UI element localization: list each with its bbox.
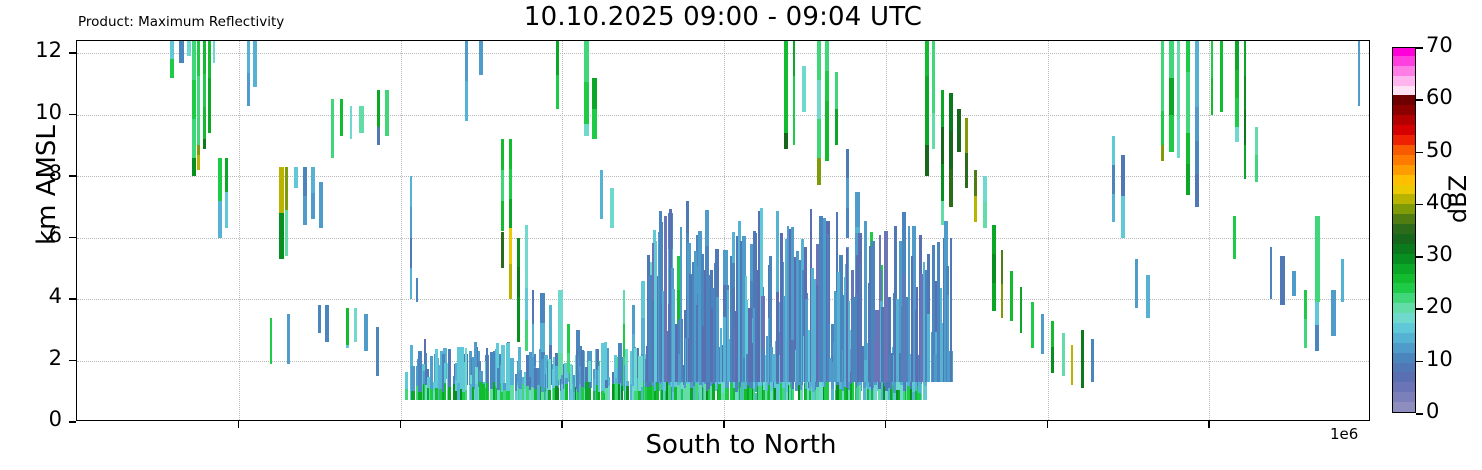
reflectivity-segment bbox=[311, 167, 315, 193]
reflectivity-segment bbox=[855, 294, 857, 382]
reflectivity-column bbox=[213, 41, 215, 420]
y-tick-label: 2 bbox=[14, 346, 62, 370]
colorbar-band bbox=[1393, 283, 1415, 293]
reflectivity-segment bbox=[465, 81, 468, 121]
reflectivity-segment bbox=[570, 364, 572, 389]
reflectivity-segment bbox=[1081, 359, 1084, 388]
reflectivity-segment bbox=[1331, 290, 1336, 336]
reflectivity-segment bbox=[937, 242, 940, 382]
reflectivity-segment bbox=[225, 192, 228, 229]
colorbar-tick-label: 20 bbox=[1426, 294, 1453, 318]
reflectivity-segment bbox=[203, 107, 206, 140]
reflectivity-segment bbox=[509, 199, 512, 229]
reflectivity-segment bbox=[1071, 345, 1073, 385]
reflectivity-segment bbox=[632, 305, 635, 334]
reflectivity-segment bbox=[1177, 119, 1180, 158]
colorbar-tick-mark bbox=[1416, 99, 1423, 101]
reflectivity-column bbox=[1169, 41, 1174, 420]
reflectivity-segment bbox=[197, 155, 200, 170]
reflectivity-segment bbox=[581, 387, 584, 400]
x-tick-mark bbox=[238, 421, 240, 428]
colorbar-band bbox=[1393, 115, 1415, 125]
reflectivity-segment bbox=[763, 348, 765, 382]
reflectivity-segment bbox=[925, 111, 929, 146]
reflectivity-segment bbox=[598, 392, 600, 400]
reflectivity-segment bbox=[573, 375, 575, 392]
colorbar-tick-label: 0 bbox=[1426, 399, 1439, 423]
reflectivity-segment bbox=[1292, 271, 1296, 296]
reflectivity-segment bbox=[350, 106, 352, 140]
reflectivity-segment bbox=[1304, 319, 1307, 348]
reflectivity-segment bbox=[932, 77, 935, 113]
y-tick-label: 4 bbox=[14, 284, 62, 308]
reflectivity-segment bbox=[584, 41, 589, 82]
reflectivity-segment bbox=[1169, 115, 1174, 152]
reflectivity-column bbox=[1220, 41, 1223, 420]
reflectivity-column bbox=[983, 41, 987, 420]
reflectivity-segment bbox=[340, 99, 343, 136]
colorbar bbox=[1392, 47, 1416, 413]
reflectivity-segment bbox=[784, 133, 788, 148]
reflectivity-segment bbox=[1315, 273, 1320, 302]
reflectivity-segment bbox=[776, 292, 779, 382]
reflectivity-segment bbox=[565, 384, 568, 399]
reflectivity-segment bbox=[705, 210, 709, 246]
reflectivity-segment bbox=[859, 385, 861, 399]
reflectivity-segment bbox=[565, 378, 568, 385]
reflectivity-column bbox=[376, 41, 379, 420]
reflectivity-segment bbox=[532, 290, 534, 324]
reflectivity-column bbox=[1211, 41, 1213, 420]
reflectivity-segment bbox=[410, 268, 412, 299]
reflectivity-segment bbox=[208, 115, 211, 133]
reflectivity-segment bbox=[1169, 78, 1174, 115]
x-tick-mark bbox=[561, 421, 563, 428]
reflectivity-segment bbox=[364, 314, 368, 351]
reflectivity-segment bbox=[600, 170, 603, 219]
reflectivity-segment bbox=[1235, 98, 1239, 127]
reflectivity-segment bbox=[1081, 330, 1084, 359]
reflectivity-segment bbox=[1220, 76, 1223, 111]
reflectivity-segment bbox=[1161, 76, 1164, 111]
colorbar-tick-mark bbox=[1416, 256, 1423, 258]
reflectivity-segment bbox=[831, 389, 834, 399]
reflectivity-segment bbox=[712, 384, 715, 400]
y-tick-label: 10 bbox=[14, 100, 62, 124]
y-tick-label: 6 bbox=[14, 223, 62, 247]
reflectivity-segment bbox=[410, 238, 412, 269]
reflectivity-segment bbox=[949, 93, 953, 131]
colorbar-band bbox=[1393, 313, 1415, 323]
reflectivity-segment bbox=[1315, 245, 1320, 274]
y-tick-mark bbox=[69, 114, 76, 116]
reflectivity-segment bbox=[716, 297, 719, 382]
reflectivity-column bbox=[203, 41, 206, 420]
colorbar-tick-mark bbox=[1416, 308, 1423, 310]
reflectivity-segment bbox=[525, 257, 528, 288]
colorbar-band bbox=[1393, 65, 1415, 75]
reflectivity-segment bbox=[525, 320, 528, 351]
reflectivity-column bbox=[1292, 41, 1296, 420]
reflectivity-segment bbox=[435, 349, 438, 387]
reflectivity-segment bbox=[556, 75, 559, 109]
reflectivity-column bbox=[1010, 41, 1013, 420]
reflectivity-segment bbox=[1186, 133, 1190, 164]
reflectivity-segment bbox=[835, 72, 838, 109]
colorbar-band bbox=[1393, 263, 1415, 273]
reflectivity-segment bbox=[598, 366, 600, 393]
reflectivity-segment bbox=[537, 385, 540, 400]
reflectivity-segment bbox=[208, 41, 211, 78]
reflectivity-segment bbox=[748, 308, 752, 382]
reflectivity-segment bbox=[608, 377, 610, 386]
reflectivity-segment bbox=[846, 149, 849, 179]
reflectivity-segment bbox=[677, 385, 680, 400]
reflectivity-column bbox=[1177, 41, 1180, 420]
colorbar-tick-mark bbox=[1416, 47, 1423, 49]
reflectivity-column bbox=[1270, 41, 1272, 420]
reflectivity-segment bbox=[192, 119, 196, 158]
reflectivity-segment bbox=[247, 41, 250, 73]
reflectivity-segment bbox=[581, 350, 584, 386]
reflectivity-segment bbox=[1091, 339, 1094, 382]
reflectivity-segment bbox=[592, 78, 597, 109]
colorbar-tick-mark bbox=[1416, 413, 1423, 415]
reflectivity-segment bbox=[1121, 155, 1125, 196]
reflectivity-column bbox=[1235, 41, 1239, 420]
reflectivity-segment bbox=[418, 392, 422, 399]
colorbar-band bbox=[1393, 47, 1415, 56]
reflectivity-column bbox=[364, 41, 368, 420]
reflectivity-segment bbox=[170, 41, 174, 59]
reflectivity-segment bbox=[805, 389, 807, 400]
reflectivity-segment bbox=[924, 386, 927, 400]
reflectivity-segment bbox=[848, 301, 850, 382]
reflectivity-segment bbox=[835, 109, 838, 146]
reflectivity-segment bbox=[589, 388, 591, 400]
reflectivity-segment bbox=[501, 232, 504, 269]
reflectivity-segment bbox=[1255, 155, 1258, 183]
reflectivity-segment bbox=[925, 76, 929, 111]
reflectivity-segment bbox=[1112, 194, 1115, 223]
reflectivity-segment bbox=[1235, 41, 1239, 70]
reflectivity-segment bbox=[192, 80, 196, 119]
reflectivity-segment bbox=[331, 145, 334, 157]
reflectivity-segment bbox=[725, 388, 729, 400]
reflectivity-segment bbox=[802, 66, 806, 112]
reflectivity-segment bbox=[525, 225, 528, 256]
reflectivity-segment bbox=[197, 111, 200, 146]
reflectivity-segment bbox=[486, 348, 488, 382]
reflectivity-column bbox=[1186, 41, 1190, 420]
reflectivity-segment bbox=[218, 201, 222, 238]
reflectivity-column bbox=[253, 41, 257, 420]
reflectivity-segment bbox=[1186, 102, 1190, 133]
y-tick-mark bbox=[69, 298, 76, 300]
colorbar-band bbox=[1393, 303, 1415, 313]
reflectivity-column bbox=[385, 41, 389, 420]
reflectivity-column bbox=[346, 41, 349, 420]
reflectivity-segment bbox=[621, 386, 623, 400]
reflectivity-segment bbox=[846, 208, 849, 238]
reflectivity-segment bbox=[927, 314, 930, 382]
reflectivity-segment bbox=[548, 390, 551, 400]
reflectivity-segment bbox=[1244, 145, 1246, 180]
colorbar-band bbox=[1393, 382, 1415, 392]
reflectivity-segment bbox=[218, 158, 222, 201]
reflectivity-segment bbox=[465, 390, 467, 400]
reflectivity-segment bbox=[793, 76, 795, 111]
reflectivity-segment bbox=[558, 290, 563, 322]
reflectivity-segment bbox=[1186, 164, 1190, 195]
reflectivity-column bbox=[1112, 41, 1115, 420]
reflectivity-segment bbox=[941, 164, 944, 201]
reflectivity-segment bbox=[197, 145, 200, 154]
reflectivity-column bbox=[1041, 41, 1044, 420]
reflectivity-segment bbox=[610, 188, 614, 228]
reflectivity-column bbox=[1091, 41, 1094, 420]
reflectivity-segment bbox=[1177, 80, 1180, 119]
reflectivity-column bbox=[1062, 41, 1065, 420]
colorbar-band bbox=[1393, 134, 1415, 144]
y-tick-label: 12 bbox=[14, 38, 62, 62]
reflectivity-segment bbox=[170, 59, 174, 77]
reflectivity-segment bbox=[949, 131, 953, 169]
reflectivity-segment bbox=[753, 308, 755, 382]
reflectivity-segment bbox=[1001, 284, 1003, 318]
reflectivity-column bbox=[1255, 41, 1258, 420]
colorbar-band bbox=[1393, 322, 1415, 332]
reflectivity-segment bbox=[592, 109, 597, 140]
reflectivity-segment bbox=[318, 305, 321, 333]
reflectivity-segment bbox=[1270, 247, 1272, 273]
reflectivity-segment bbox=[641, 318, 645, 355]
reflectivity-segment bbox=[817, 80, 821, 119]
reflectivity-segment bbox=[331, 99, 334, 145]
reflectivity-segment bbox=[800, 390, 802, 400]
reflectivity-segment bbox=[203, 139, 206, 148]
reflectivity-segment bbox=[817, 41, 821, 80]
reflectivity-segment bbox=[941, 127, 944, 164]
reflectivity-segment bbox=[896, 299, 899, 382]
x-tick-mark bbox=[885, 421, 887, 428]
colorbar-tick-label: 40 bbox=[1426, 190, 1453, 214]
reflectivity-segment bbox=[630, 351, 632, 384]
reflectivity-segment bbox=[925, 41, 929, 76]
reflectivity-column bbox=[1071, 41, 1073, 420]
reflectivity-segment bbox=[416, 278, 418, 303]
reflectivity-segment bbox=[588, 361, 591, 382]
colorbar-tick-label: 10 bbox=[1426, 347, 1453, 371]
x-axis-label: South to North bbox=[0, 430, 1482, 460]
reflectivity-segment bbox=[303, 167, 307, 196]
reflectivity-segment bbox=[949, 169, 953, 207]
radar-cross-section-figure: Product: Maximum Reflectivity 10.10.2025… bbox=[0, 0, 1482, 470]
reflectivity-segment bbox=[573, 392, 575, 400]
colorbar-band bbox=[1393, 243, 1415, 253]
reflectivity-segment bbox=[1051, 321, 1054, 347]
reflectivity-segment bbox=[1255, 127, 1258, 155]
reflectivity-segment bbox=[187, 41, 191, 56]
reflectivity-column bbox=[279, 41, 284, 420]
reflectivity-segment bbox=[465, 348, 467, 389]
reflectivity-segment bbox=[1051, 347, 1054, 373]
colorbar-band bbox=[1393, 75, 1415, 85]
reflectivity-segment bbox=[346, 308, 349, 345]
reflectivity-segment bbox=[641, 387, 643, 400]
reflectivity-segment bbox=[558, 322, 563, 354]
reflectivity-segment bbox=[1195, 41, 1199, 74]
colorbar-band bbox=[1393, 214, 1415, 224]
reflectivity-segment bbox=[792, 389, 794, 399]
reflectivity-segment bbox=[825, 71, 829, 101]
reflectivity-segment bbox=[376, 327, 379, 376]
colorbar-tick-mark bbox=[1416, 204, 1423, 206]
reflectivity-segment bbox=[225, 158, 228, 192]
reflectivity-segment bbox=[720, 328, 722, 382]
colorbar-band bbox=[1393, 85, 1415, 95]
colorbar-band bbox=[1393, 95, 1415, 105]
reflectivity-column bbox=[1051, 41, 1054, 420]
reflectivity-segment bbox=[537, 368, 540, 385]
reflectivity-segment bbox=[626, 386, 629, 400]
reflectivity-segment bbox=[1010, 271, 1013, 320]
reflectivity-column bbox=[992, 41, 996, 420]
reflectivity-column bbox=[247, 41, 250, 420]
reflectivity-segment bbox=[501, 201, 504, 232]
reflectivity-segment bbox=[784, 72, 788, 103]
reflectivity-segment bbox=[1177, 41, 1180, 80]
reflectivity-column bbox=[197, 41, 200, 420]
plot-area bbox=[76, 40, 1370, 421]
reflectivity-segment bbox=[817, 158, 821, 186]
reflectivity-segment bbox=[932, 41, 935, 77]
reflectivity-segment bbox=[418, 351, 422, 393]
reflectivity-segment bbox=[983, 176, 987, 202]
reflectivity-segment bbox=[641, 281, 645, 318]
reflectivity-segment bbox=[992, 254, 996, 283]
reflectivity-segment bbox=[776, 384, 779, 400]
reflectivity-segment bbox=[192, 158, 196, 176]
reflectivity-segment bbox=[410, 176, 412, 207]
reflectivity-segment bbox=[925, 145, 929, 176]
reflectivity-segment bbox=[1244, 41, 1246, 76]
reflectivity-segment bbox=[1235, 70, 1239, 99]
reflectivity-segment bbox=[1031, 302, 1034, 348]
colorbar-band bbox=[1393, 392, 1415, 402]
reflectivity-segment bbox=[1315, 216, 1320, 245]
reflectivity-segment bbox=[517, 297, 520, 327]
reflectivity-segment bbox=[540, 293, 545, 323]
reflectivity-column bbox=[303, 41, 307, 420]
reflectivity-segment bbox=[501, 139, 504, 170]
reflectivity-column bbox=[1031, 41, 1034, 420]
reflectivity-segment bbox=[763, 390, 765, 400]
reflectivity-column bbox=[1081, 41, 1084, 420]
reflectivity-segment bbox=[346, 345, 349, 348]
reflectivity-segment bbox=[911, 256, 913, 382]
reflectivity-column bbox=[1233, 41, 1236, 420]
reflectivity-column bbox=[287, 41, 290, 420]
reflectivity-segment bbox=[878, 389, 881, 400]
reflectivity-segment bbox=[203, 41, 206, 74]
colorbar-band bbox=[1393, 55, 1415, 65]
reflectivity-column bbox=[270, 41, 272, 420]
reflectivity-segment bbox=[197, 76, 200, 111]
x-tick-mark bbox=[400, 421, 402, 428]
reflectivity-segment bbox=[1280, 256, 1285, 305]
reflectivity-segment bbox=[303, 196, 307, 225]
reflectivity-segment bbox=[855, 192, 860, 227]
reflectivity-column bbox=[1280, 41, 1285, 420]
reflectivity-segment bbox=[311, 193, 315, 219]
colorbar-tick-mark bbox=[1416, 152, 1423, 154]
reflectivity-segment bbox=[1195, 141, 1199, 174]
x-tick-mark bbox=[1208, 421, 1210, 428]
reflectivity-segment bbox=[570, 389, 572, 400]
reflectivity-column bbox=[318, 41, 321, 420]
reflectivity-segment bbox=[179, 41, 184, 63]
reflectivity-segment bbox=[1195, 74, 1199, 107]
reflectivity-segment bbox=[829, 358, 832, 383]
reflectivity-column bbox=[179, 41, 184, 420]
reflectivity-segment bbox=[1146, 275, 1150, 318]
reflectivity-column bbox=[187, 41, 191, 420]
reflectivity-column bbox=[974, 41, 977, 420]
reflectivity-segment bbox=[864, 221, 867, 382]
reflectivity-segment bbox=[918, 393, 921, 400]
reflectivity-segment bbox=[555, 386, 558, 400]
reflectivity-column bbox=[965, 41, 968, 420]
reflectivity-column bbox=[225, 41, 228, 420]
reflectivity-segment bbox=[1020, 287, 1022, 333]
reflectivity-segment bbox=[208, 78, 211, 115]
reflectivity-segment bbox=[1211, 41, 1213, 78]
reflectivity-segment bbox=[517, 267, 520, 297]
reflectivity-segment bbox=[974, 196, 977, 222]
reflectivity-segment bbox=[470, 384, 472, 400]
reflectivity-segment bbox=[410, 207, 412, 238]
reflectivity-segment bbox=[540, 323, 545, 353]
reflectivity-segment bbox=[881, 383, 883, 400]
reflectivity-segment bbox=[1358, 73, 1360, 105]
x-tick-mark bbox=[723, 421, 725, 428]
reflectivity-segment bbox=[584, 124, 589, 136]
reflectivity-segment bbox=[837, 272, 840, 383]
colorbar-tick-mark bbox=[1416, 361, 1423, 363]
reflectivity-column bbox=[354, 41, 357, 420]
reflectivity-segment bbox=[253, 41, 257, 87]
reflectivity-segment bbox=[623, 290, 625, 324]
y-tick-mark bbox=[69, 421, 76, 423]
reflectivity-segment bbox=[517, 327, 520, 342]
reflectivity-segment bbox=[247, 73, 250, 105]
reflectivity-segment bbox=[325, 305, 329, 342]
reflectivity-segment bbox=[1186, 41, 1190, 72]
reflectivity-column bbox=[1195, 41, 1199, 420]
reflectivity-column bbox=[1121, 41, 1125, 420]
reflectivity-segment bbox=[470, 375, 472, 384]
colorbar-band bbox=[1393, 233, 1415, 243]
reflectivity-segment bbox=[1161, 41, 1164, 76]
reflectivity-segment bbox=[710, 308, 713, 382]
reflectivity-segment bbox=[555, 366, 558, 385]
reflectivity-segment bbox=[825, 131, 829, 161]
reflectivity-segment bbox=[656, 383, 659, 400]
reflectivity-segment bbox=[932, 113, 935, 149]
reflectivity-segment bbox=[532, 324, 534, 358]
y-tick-mark bbox=[69, 237, 76, 239]
